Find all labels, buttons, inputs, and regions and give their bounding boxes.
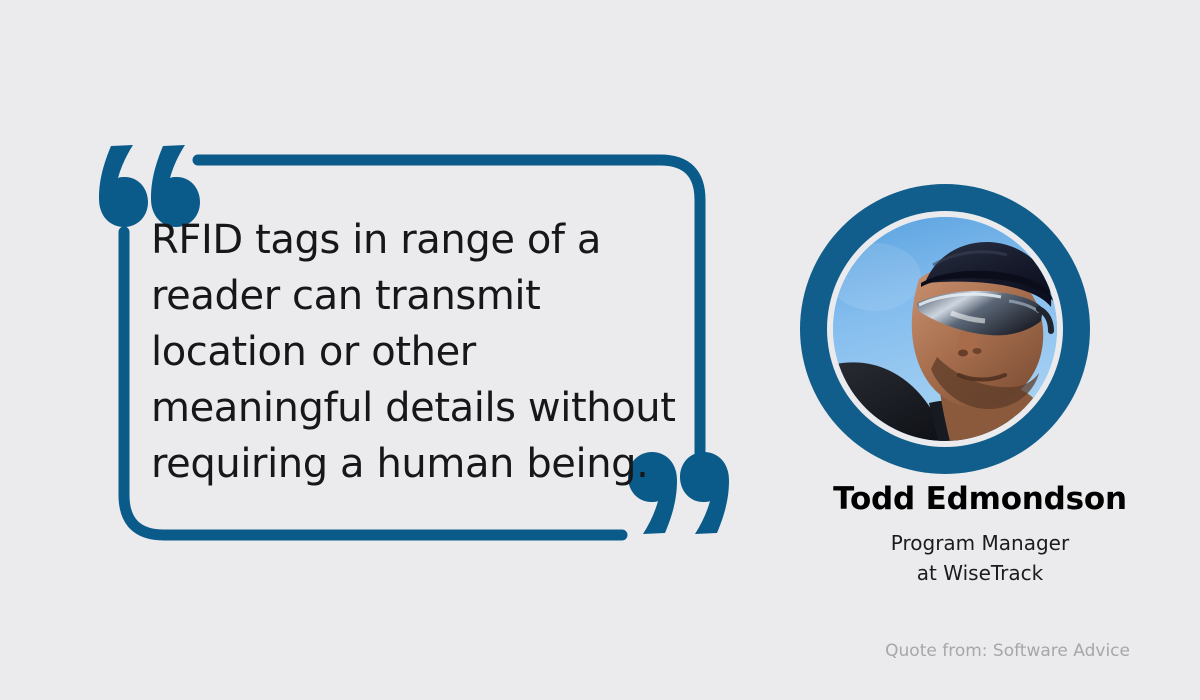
attribution-note: Quote from: Software Advice bbox=[0, 641, 1130, 661]
person-role: Program Manager at WiseTrack bbox=[760, 528, 1200, 588]
avatar-ring-gap bbox=[827, 211, 1063, 447]
person-block: Todd Edmondson Program Manager at WiseTr… bbox=[760, 0, 1200, 700]
avatar-photo-icon bbox=[833, 217, 1057, 441]
quote-text: RFID tags in range of a reader can trans… bbox=[151, 212, 681, 492]
avatar bbox=[833, 217, 1057, 441]
avatar-ring bbox=[800, 184, 1090, 474]
testimonial-card: RFID tags in range of a reader can trans… bbox=[0, 0, 1200, 700]
person-name: Todd Edmondson bbox=[760, 481, 1200, 517]
quote-block: RFID tags in range of a reader can trans… bbox=[0, 0, 760, 700]
